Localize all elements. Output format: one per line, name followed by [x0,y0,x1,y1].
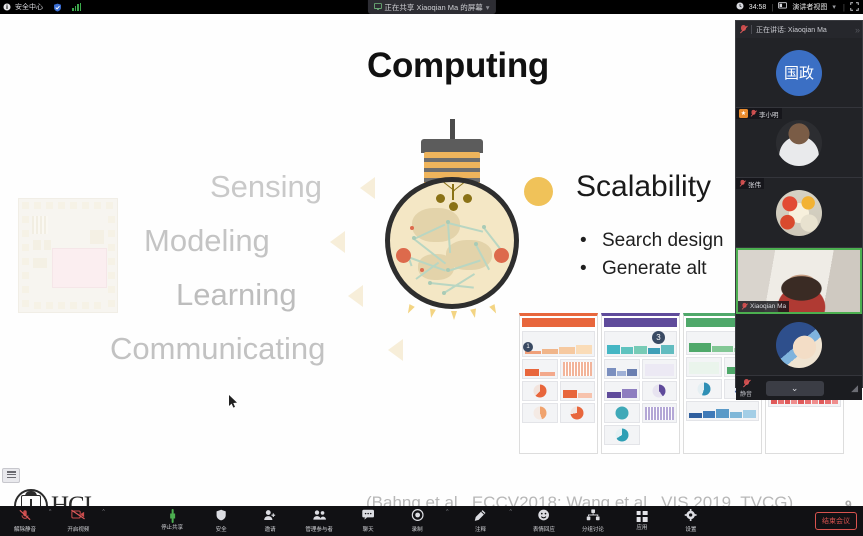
view-mode-label[interactable]: 演讲者视图 [792,2,827,12]
security-center-label[interactable]: 安全中心 [15,2,43,12]
participant-tile[interactable]: 张伟 [736,178,862,248]
record-icon [411,509,423,524]
section-heading-scalability: Scalability [576,170,711,204]
bullet-item: •Search design [580,230,723,252]
bulb-ray [405,304,415,315]
sharing-status-label: 正在共享 Xiaoqian Ma 的屏幕 [384,2,482,13]
mic-muted-icon [742,303,748,310]
end-meeting-button[interactable]: 结束会议 [815,512,857,530]
os-top-bar: 安全中心 正在共享 Xiaoqian Ma 的屏幕 ▾ 34:58 | 演讲者视… [0,0,863,14]
double-chevron-right-icon[interactable]: » [855,25,858,35]
topbar-divider: | [771,3,773,12]
settings-label: 设置 [685,525,696,533]
page-title: Computing [367,46,549,86]
resize-handle-icon[interactable]: ◢ [851,383,858,394]
signal-bars-icon[interactable] [72,3,81,11]
toolbar-left-group: 解除静音 ^ 开启视频 ^ [0,509,105,534]
hci-wordmark: HCI [51,492,91,506]
thumbnail-card: 1 [519,313,598,454]
monitor-icon [778,2,787,12]
zoom-meeting-toolbar: 解除静音 ^ 开启视频 ^ 停止共享 安全 [0,506,863,536]
chevron-down-icon: ⌄ [791,383,799,394]
stop-share-label: 停止共享 [161,523,183,531]
sidebar-header-divider [751,25,752,34]
thumbnail-header-band [604,318,677,327]
security-button[interactable]: 安全 [204,509,238,534]
annotate-icon [474,509,487,524]
thumbnail-badge: 1 [523,342,533,352]
chat-label: 聊天 [363,525,374,533]
participants-video-sidebar: 正在讲话: Xiaoqian Ma » 国政 ★ 李小明 张伟 [735,20,863,388]
bullet-glyph: • [580,258,602,280]
sensor-board-illustration [18,198,118,313]
unmute-button-label: 解除静音 [14,525,36,533]
topbar-right-group: 34:58 | 演讲者视图 ▾ | [736,2,859,13]
bullet-text: Generate alt [602,258,707,279]
security-label: 安全 [216,525,227,533]
record-options-caret[interactable]: ^ [446,509,448,515]
avatar [776,120,822,166]
arrow-triangle-icon [348,285,363,307]
keyword-learning: Learning [176,277,297,313]
meeting-timer-label: 34:58 [749,4,767,11]
bullet-item: •Generate alt [580,258,707,280]
host-badge-icon: ★ [739,109,748,118]
bullet-glyph: • [580,230,602,252]
breakout-icon [586,509,599,524]
shield-icon [216,509,227,524]
expand-icon[interactable] [850,2,859,13]
avatar [776,190,822,236]
avatar-initials: 国政 [784,62,814,83]
thumbnail-cells [602,329,679,447]
participant-tile[interactable] [736,314,862,376]
view-mode-chevron-down-icon[interactable]: ▾ [832,3,836,11]
invite-button[interactable]: 邀请 [253,509,287,534]
bulb-glass [385,177,519,309]
record-label: 录制 [412,525,423,533]
bulb-ray [428,308,436,318]
mute-button[interactable]: 静音 [740,379,752,398]
thumbnail-badge: 3 [652,331,665,344]
topbar-left-group: 安全中心 [0,2,81,12]
invite-label: 邀请 [265,525,276,533]
start-video-button-label: 开启视频 [67,525,89,533]
mic-muted-icon [751,110,757,117]
apps-button[interactable]: 应用 [625,511,659,532]
arrow-triangle-icon [388,339,403,361]
screen-share-icon [373,3,381,12]
manage-participants-label: 管理参与者 [305,525,333,533]
bulb-ray [451,311,457,320]
accent-dot [524,177,553,206]
collapse-panel-button[interactable]: ⌄ [766,381,824,396]
participant-name-bar: 张伟 [736,178,764,189]
manage-participants-button[interactable]: 管理参与者 [302,509,336,534]
university-seal-icon [14,489,48,506]
annotate-options-caret[interactable]: ^ [510,509,512,515]
participants-icon [312,509,326,524]
reaction-icon [538,509,550,524]
breakout-rooms-button[interactable]: 分组讨论 [576,509,610,534]
participant-name-bar: Xiaoqian Ma [738,301,789,312]
bulb-ray [470,308,478,318]
clock-icon [736,2,744,12]
participant-name-bar: ★ 李小明 [736,108,782,119]
chevron-down-icon[interactable]: ▾ [486,3,490,12]
apps-grid-icon [636,511,647,522]
avatar [776,322,822,368]
topbar-divider-2: | [843,3,845,12]
reactions-label: 表情回应 [533,525,555,533]
window-menu-button[interactable] [2,468,20,483]
shared-slide-canvas: Computing [0,14,863,506]
info-circle-icon[interactable] [3,3,11,11]
sidebar-footer: 静音 ⌄ ◢ [736,376,862,400]
mic-muted-icon [19,509,31,524]
hamburger-icon [7,471,16,479]
annotate-label: 注释 [475,525,486,533]
reactions-button[interactable]: 表情回应 [527,509,561,534]
video-off-icon [71,509,85,523]
bulb-cap [421,139,483,153]
video-options-caret[interactable]: ^ [102,509,104,515]
shield-check-icon[interactable] [53,3,62,12]
participant-name-label: 李小明 [759,109,779,119]
record-button[interactable]: 录制 [400,509,434,534]
toolbar-right-group: 结束会议 [815,512,857,530]
start-video-button[interactable]: 开启视频 [61,509,95,533]
bullet-text: Search design [602,230,723,251]
thumbnail-card: 3 [601,313,680,454]
slide-page-number: 9 [845,498,852,506]
citation-text: (Bahng et al., ECCV2018; Wang et al., VI… [366,493,793,506]
invite-icon [264,509,277,524]
keyword-modeling: Modeling [144,223,270,259]
stop-share-button[interactable]: 停止共享 [155,511,189,532]
unmute-button[interactable]: 解除静音 [8,509,42,534]
chat-icon [362,509,375,523]
chat-button[interactable]: 聊天 [351,509,385,533]
settings-button[interactable]: 设置 [674,509,708,534]
mic-muted-icon[interactable] [740,25,747,34]
screen-share-icon [171,511,173,522]
settings-gear-icon [685,509,697,524]
mic-muted-icon [743,379,750,388]
apps-label: 应用 [636,523,647,531]
active-speaker-label: 正在讲话: Xiaoqian Ma [756,25,827,35]
university-hci-logo: HCI [14,486,91,506]
bulb-ray [489,304,499,315]
toolbar-center-group: 停止共享 安全 邀请 管理参与者 [155,509,708,534]
mic-muted-icon [740,180,746,187]
screen-root: 安全中心 正在共享 Xiaoqian Ma 的屏幕 ▾ 34:58 | 演讲者视… [0,0,863,536]
bulb-cord [450,119,455,141]
participant-name-label: 张伟 [748,179,761,189]
participant-tile[interactable]: 国政 [736,38,862,108]
arrow-triangle-icon [330,231,345,253]
mouse-pointer [229,395,238,408]
sidebar-header: 正在讲话: Xiaoqian Ma » [736,21,862,38]
participant-tile[interactable]: ★ 李小明 [736,108,862,178]
keyword-communicating: Communicating [110,331,325,367]
thumbnail-header-band [522,318,595,327]
keyword-sensing: Sensing [210,169,322,205]
sharing-status-badge[interactable]: 正在共享 Xiaoqian Ma 的屏幕 ▾ [367,0,495,14]
unmute-options-caret[interactable]: ^ [49,509,51,515]
avatar: 国政 [776,50,822,96]
lightbulb-network-illustration [373,119,533,309]
participant-tile-active-speaker[interactable]: 郑文瑜 Xiaoqian Ma [736,248,862,314]
mute-button-label: 静音 [740,389,752,398]
participant-name-label: Xiaoqian Ma [750,303,786,310]
annotate-button[interactable]: 注释 [464,509,498,534]
breakout-rooms-label: 分组讨论 [582,525,604,533]
